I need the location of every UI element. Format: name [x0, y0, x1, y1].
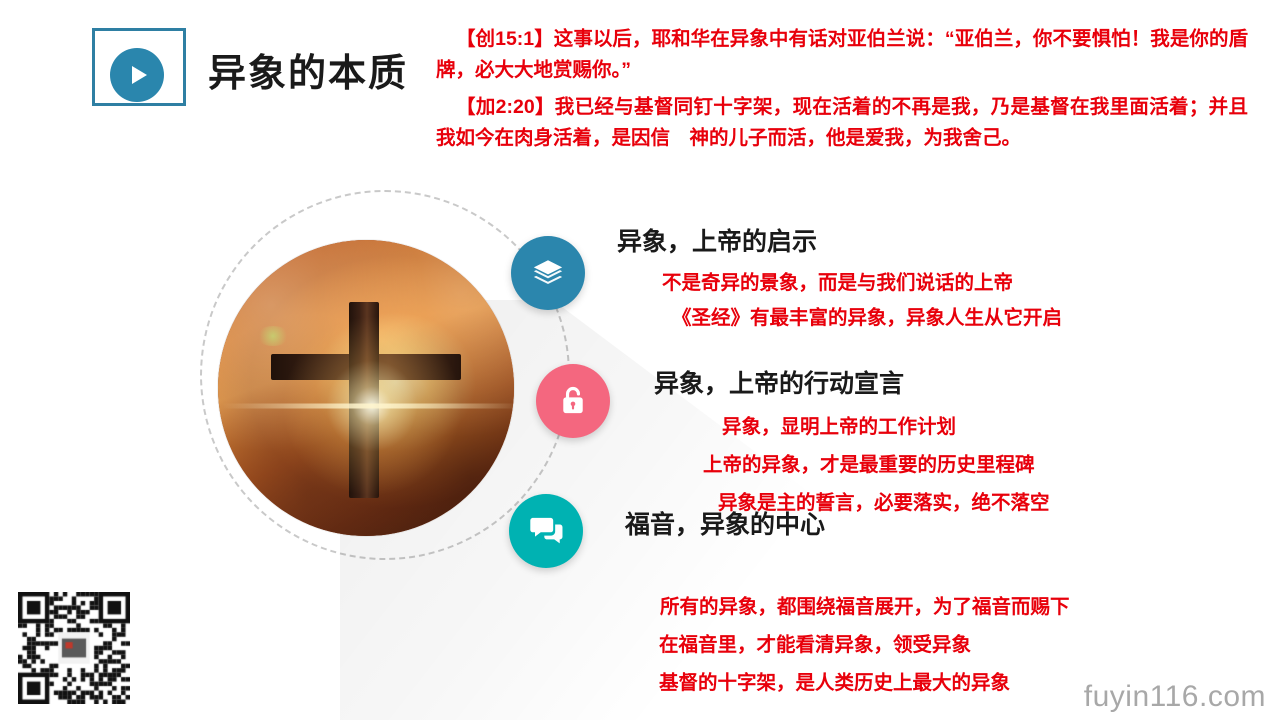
- section-1-icon-bubble: [511, 236, 585, 310]
- scripture-verse-1: 【创15:1】这事以后，耶和华在异象中有话对亚伯兰说：“亚伯兰，你不要惧怕！我是…: [436, 24, 1248, 86]
- section-2-heading: 异象，上帝的行动宣言: [654, 364, 904, 400]
- section-1-line-1: 不是奇异的景象，而是与我们说话的上帝: [662, 268, 1013, 298]
- page-title: 异象的本质: [208, 42, 408, 97]
- lens-flare-spot: [256, 326, 290, 346]
- lock-icon: [558, 384, 588, 418]
- section-3-line-2: 在福音里，才能看清异象，领受异象: [659, 630, 971, 660]
- scripture-verse-2: 【加2:20】我已经与基督同钉十字架，现在活着的不再是我，乃是基督在我里面活着；…: [436, 92, 1248, 154]
- play-triangle-icon: [110, 48, 164, 102]
- section-3-icon-bubble: [509, 494, 583, 568]
- cross-at-sunset-photo: [218, 240, 514, 536]
- section-1-line-2: 《圣经》有最丰富的异象，异象人生从它开启: [672, 303, 1062, 333]
- qr-code: [18, 592, 130, 704]
- section-1-heading: 异象，上帝的启示: [617, 222, 817, 258]
- chat-bubbles-icon: [529, 515, 563, 547]
- section-3-heading: 福音，异象的中心: [625, 505, 825, 541]
- section-2-line-1: 异象，显明上帝的工作计划: [722, 412, 956, 442]
- section-2-icon-bubble: [536, 364, 610, 438]
- cross-shape: [271, 302, 461, 498]
- section-3-line-1: 所有的异象，都围绕福音展开，为了福音而赐下: [660, 592, 1070, 622]
- layers-icon: [531, 256, 565, 290]
- site-watermark: fuyin116.com: [1084, 680, 1266, 714]
- scripture-block: 【创15:1】这事以后，耶和华在异象中有话对亚伯兰说：“亚伯兰，你不要惧怕！我是…: [436, 24, 1248, 160]
- section-2-line-2: 上帝的异象，才是最重要的历史里程碑: [703, 450, 1035, 480]
- section-3-line-3: 基督的十字架，是人类历史上最大的异象: [659, 668, 1010, 698]
- cross-vertical-beam: [349, 302, 379, 498]
